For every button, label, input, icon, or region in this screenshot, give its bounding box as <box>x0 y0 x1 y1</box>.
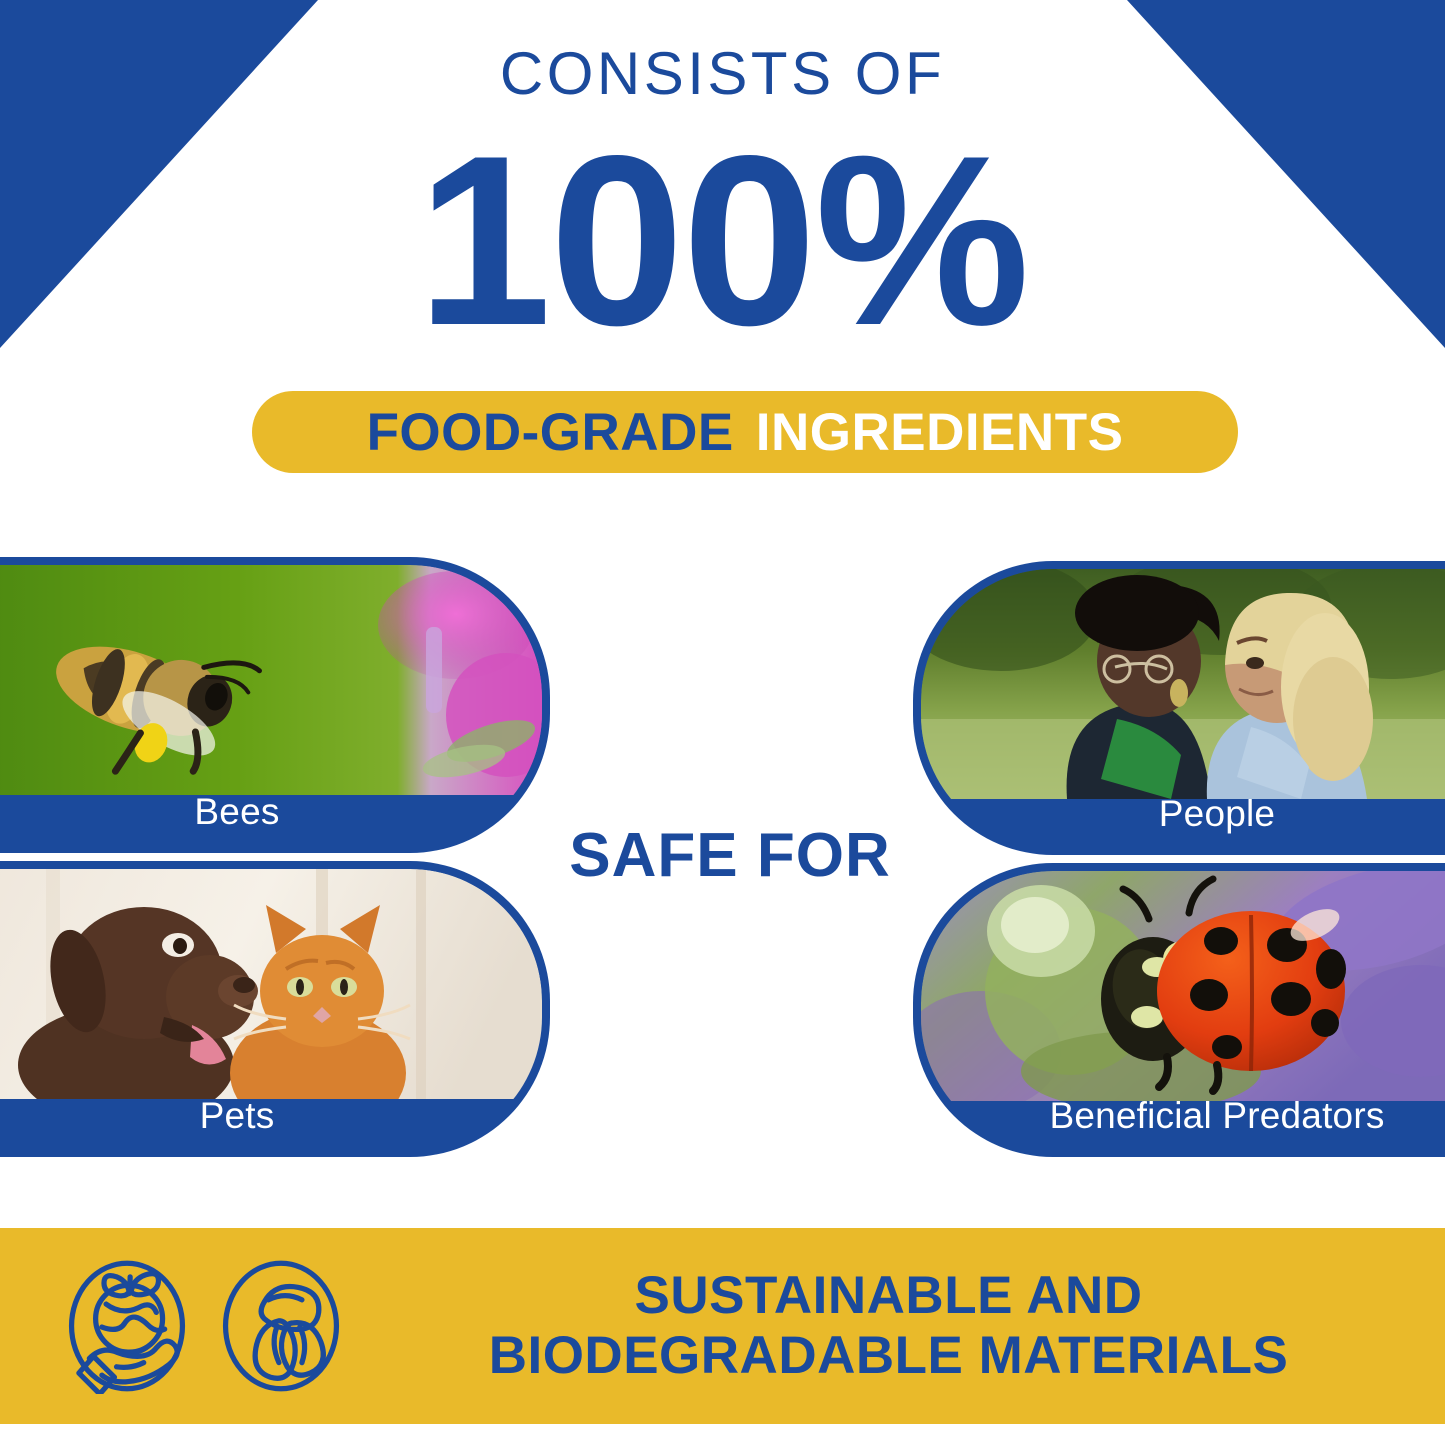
ladybug-photo <box>921 871 1445 1101</box>
banner-line-2: BIODEGRADABLE MATERIALS <box>354 1326 1423 1386</box>
badge-label-food-grade: FOOD-GRADE <box>367 402 734 463</box>
sustainability-banner: SUSTAINABLE AND BIODEGRADABLE MATERIALS <box>0 1228 1445 1424</box>
safe-for-label: SAFE FOR <box>540 820 920 891</box>
banner-text: SUSTAINABLE AND BIODEGRADABLE MATERIALS <box>344 1266 1445 1387</box>
card-caption-bees: Bees <box>0 779 542 845</box>
badge-label-ingredients: INGREDIENTS <box>756 402 1124 463</box>
card-caption-people: People <box>921 781 1445 847</box>
bee-photo <box>0 565 542 795</box>
safe-for-card-pets: Pets <box>0 861 550 1157</box>
food-grade-badge: FOOD-GRADE INGREDIENTS <box>252 391 1238 473</box>
safe-for-card-beneficial-predators: Beneficial Predators <box>913 863 1445 1157</box>
pets-photo <box>0 869 542 1099</box>
people-photo <box>921 569 1445 799</box>
card-caption-pets: Pets <box>0 1083 542 1149</box>
recycling-leaves-icon <box>218 1258 344 1394</box>
safe-for-card-bees: Bees <box>0 557 550 853</box>
hand-holding-earth-sprout-icon <box>64 1258 190 1394</box>
headline-percentage: 100% <box>0 130 1445 353</box>
card-caption-beneficial-predators: Beneficial Predators <box>921 1083 1445 1149</box>
banner-icon-group <box>64 1258 344 1394</box>
product-infographic: CONSISTS OF 100% FOOD-GRADE INGREDIENTS … <box>0 0 1445 1445</box>
safe-for-card-people: People <box>913 561 1445 855</box>
headline-block: CONSISTS OF 100% <box>0 44 1445 353</box>
banner-line-1: SUSTAINABLE AND <box>354 1266 1423 1326</box>
headline-kicker: CONSISTS OF <box>0 44 1445 104</box>
